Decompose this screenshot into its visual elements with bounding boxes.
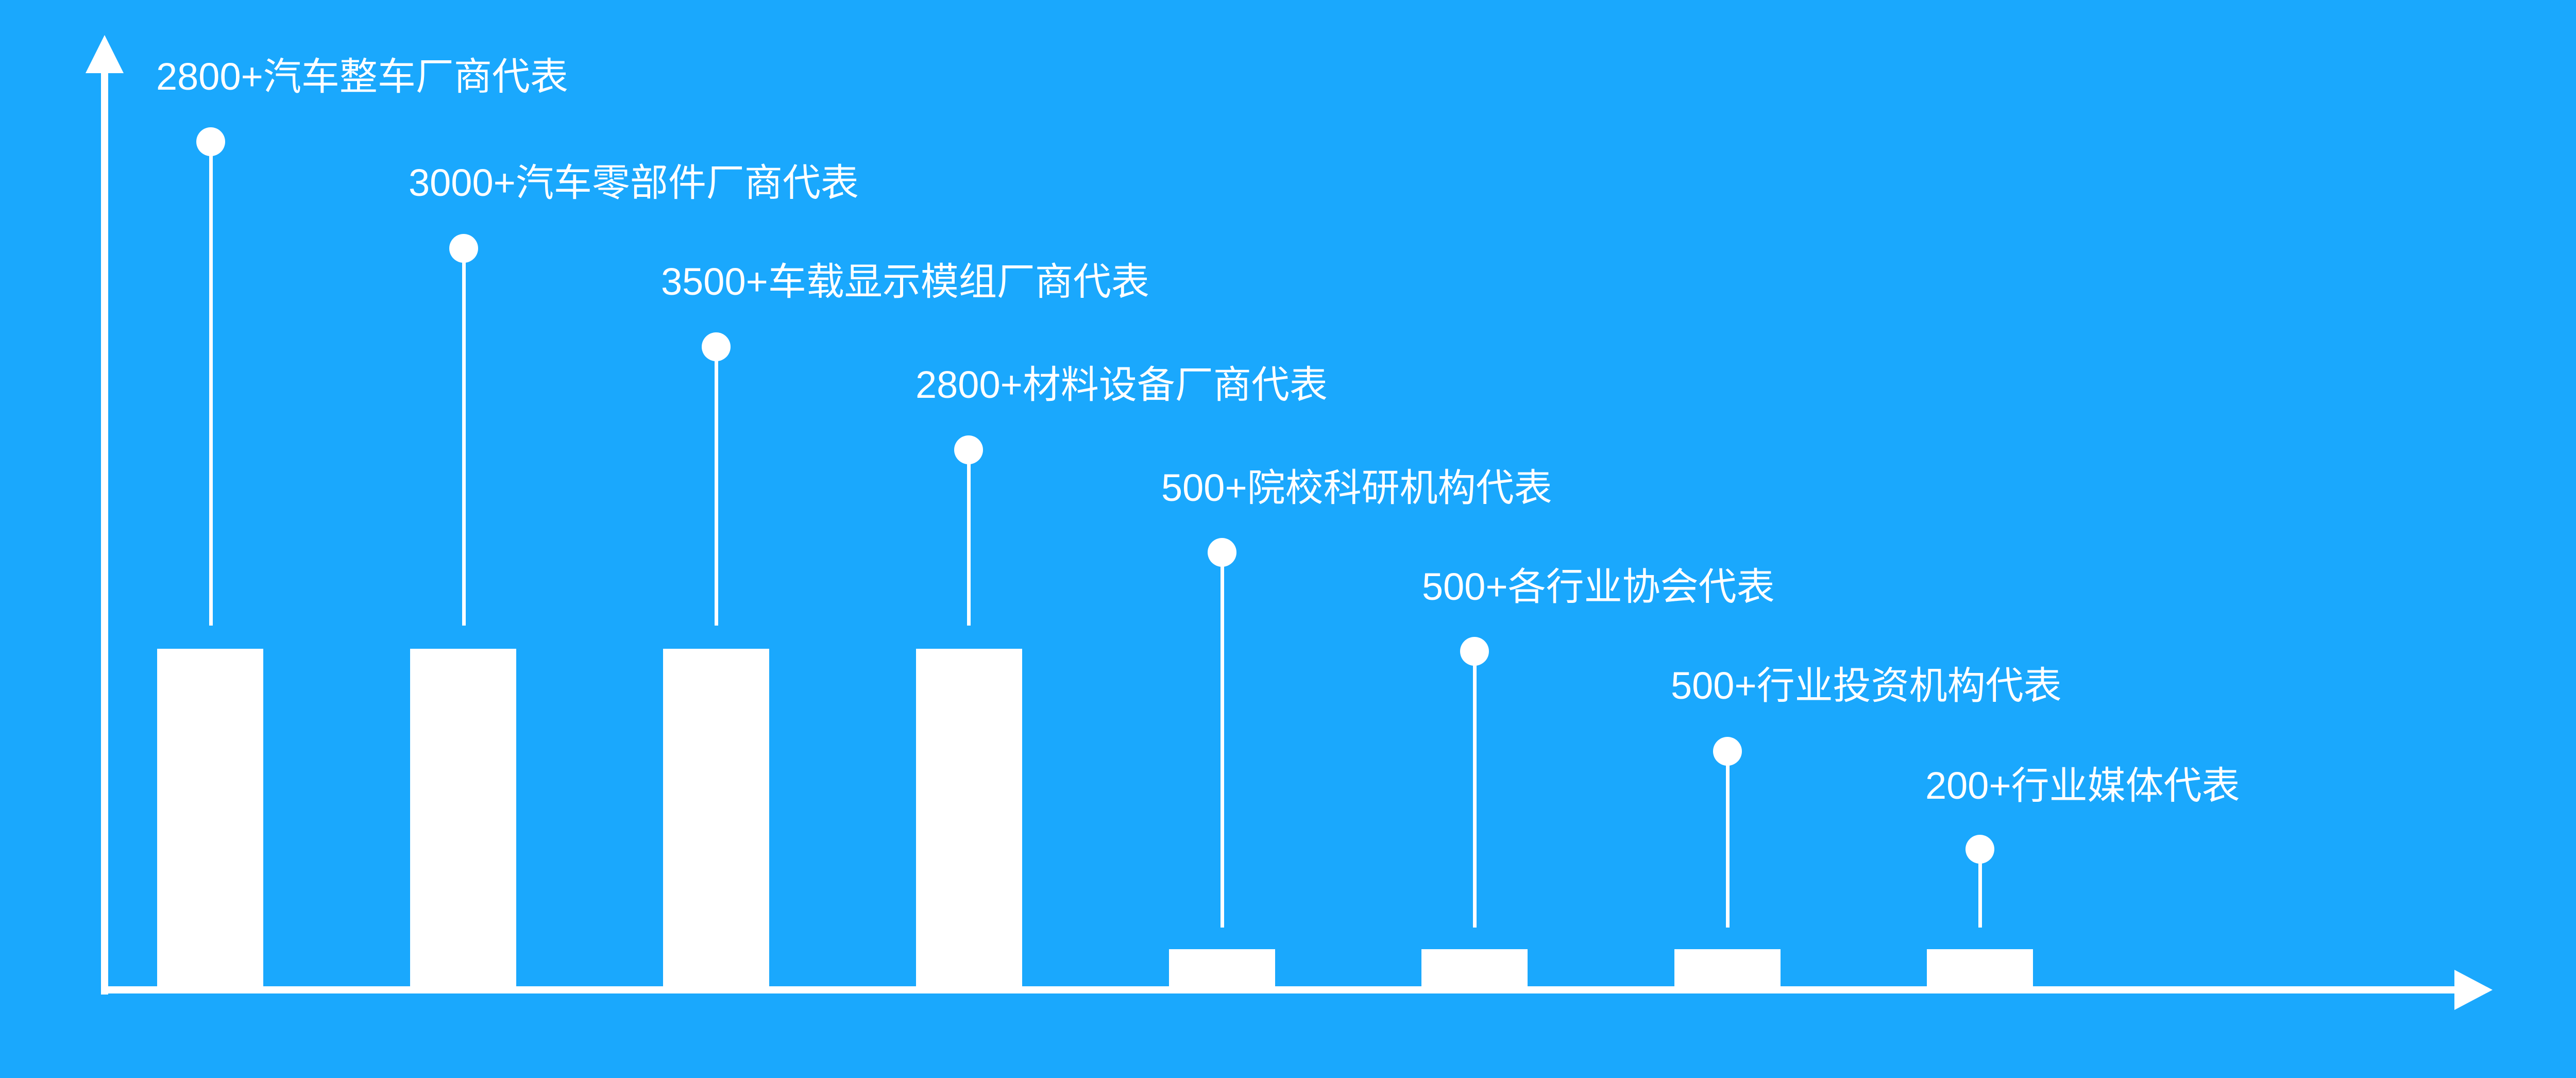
- label-material-equip: 2800+材料设备厂商代表: [916, 366, 1328, 404]
- marker-association-stem: [1473, 651, 1477, 928]
- marker-material-equip-dot: [954, 435, 983, 464]
- marker-display-module-dot: [702, 332, 731, 361]
- y-axis-arrowhead-icon: [86, 35, 124, 73]
- marker-association-dot: [1460, 637, 1489, 666]
- bar-auto-oem: [157, 649, 263, 986]
- marker-auto-oem-dot: [196, 127, 225, 156]
- bar-media: [1927, 949, 2033, 986]
- marker-display-module-stem: [715, 347, 718, 626]
- label-association: 500+各行业协会代表: [1422, 568, 1775, 606]
- marker-academic-stem: [1221, 552, 1224, 928]
- label-auto-parts: 3000+汽车零部件厂商代表: [409, 164, 859, 202]
- label-auto-oem: 2800+汽车整车厂商代表: [156, 58, 568, 96]
- marker-auto-oem-stem: [209, 142, 213, 626]
- marker-auto-parts-stem: [462, 248, 466, 626]
- marker-academic-dot: [1208, 538, 1236, 567]
- label-academic: 500+院校科研机构代表: [1161, 469, 1552, 507]
- bar-auto-parts: [410, 649, 516, 986]
- bar-academic: [1169, 949, 1275, 986]
- bar-association: [1421, 949, 1528, 986]
- x-axis-line: [101, 986, 2455, 993]
- x-axis-arrowhead-icon: [2454, 970, 2493, 1010]
- bar-display-module: [663, 649, 769, 986]
- marker-auto-parts-dot: [449, 234, 478, 263]
- label-display-module: 3500+车载显示模组厂商代表: [661, 263, 1149, 301]
- marker-media-dot: [1965, 835, 1994, 864]
- bar-investment: [1674, 949, 1781, 986]
- label-investment: 500+行业投资机构代表: [1671, 667, 2062, 705]
- chart-canvas: 2800+汽车整车厂商代表3000+汽车零部件厂商代表3500+车载显示模组厂商…: [0, 0, 2576, 1078]
- marker-material-equip-stem: [967, 450, 971, 626]
- label-media: 200+行业媒体代表: [1925, 767, 2240, 805]
- bar-material-equip: [916, 649, 1022, 986]
- y-axis-line: [101, 72, 108, 995]
- marker-investment-stem: [1726, 751, 1730, 928]
- marker-investment-dot: [1713, 737, 1742, 766]
